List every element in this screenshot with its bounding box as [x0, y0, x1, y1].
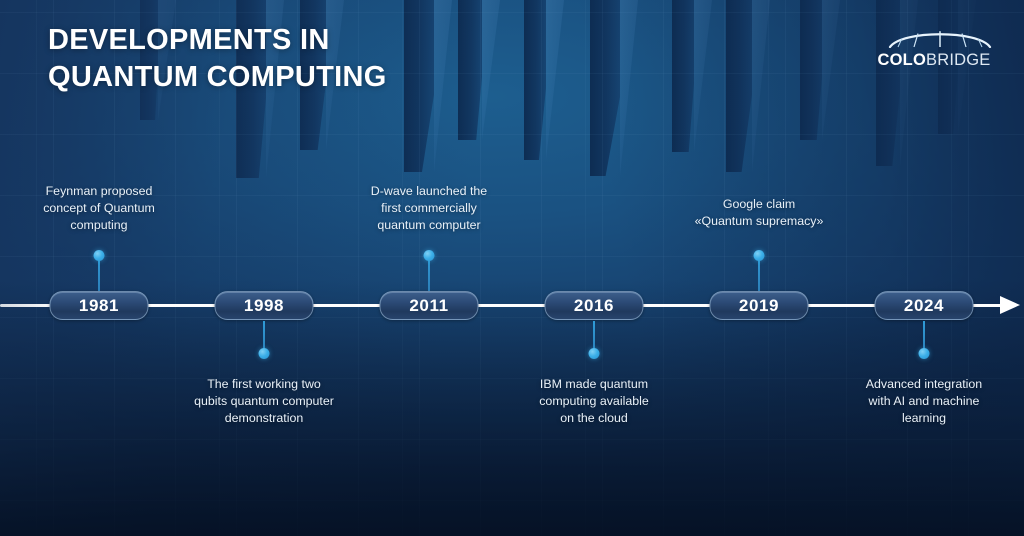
timeline-year-label: 1998: [244, 297, 284, 314]
timeline-event-caption: D-wave launched the first commercially q…: [322, 183, 536, 234]
timeline-year-label: 2016: [574, 297, 614, 314]
timeline-event-caption: Feynman proposed concept of Quantum comp…: [0, 183, 206, 234]
timeline-event-caption: Advanced integration with AI and machine…: [817, 376, 1024, 427]
timeline-axis: [0, 304, 1006, 307]
page-title: DEVELOPMENTS IN QUANTUM COMPUTING: [48, 22, 387, 96]
timeline-node-dot[interactable]: [259, 348, 270, 359]
timeline-node-dot[interactable]: [754, 250, 765, 261]
infographic-canvas: DEVELOPMENTS IN QUANTUM COMPUTING COLOBR…: [0, 0, 1024, 536]
timeline-event-caption: Google claim «Quantum supremacy»: [652, 196, 866, 230]
timeline-year-label: 2011: [409, 297, 448, 314]
timeline-year-pill[interactable]: 2016: [545, 291, 644, 320]
timeline-node-dot[interactable]: [94, 250, 105, 261]
timeline-year-label: 2019: [739, 297, 779, 314]
timeline-year-pill[interactable]: 1981: [50, 291, 149, 320]
timeline-year-label: 2024: [904, 297, 944, 314]
timeline-year-pill[interactable]: 2019: [710, 291, 809, 320]
logo-text-colo: COLO: [878, 51, 926, 69]
arrow-right-icon: [1000, 296, 1020, 314]
logo-text-bridge: BRIDGE: [926, 51, 990, 69]
bridge-arc-icon: [888, 26, 992, 48]
timeline-node-dot[interactable]: [919, 348, 930, 359]
colobridge-logo[interactable]: COLOBRIDGE: [866, 26, 1002, 74]
logo-wordmark: COLOBRIDGE: [866, 51, 1002, 70]
timeline-year-pill[interactable]: 1998: [215, 291, 314, 320]
timeline-year-pill[interactable]: 2011: [380, 291, 479, 320]
timeline-year-label: 1981: [79, 297, 119, 314]
timeline-event-caption: The first working two qubits quantum com…: [157, 376, 371, 427]
timeline-node-dot[interactable]: [589, 348, 600, 359]
timeline-event-caption: IBM made quantum computing available on …: [487, 376, 701, 427]
timeline-year-pill[interactable]: 2024: [875, 291, 974, 320]
timeline-node-dot[interactable]: [424, 250, 435, 261]
